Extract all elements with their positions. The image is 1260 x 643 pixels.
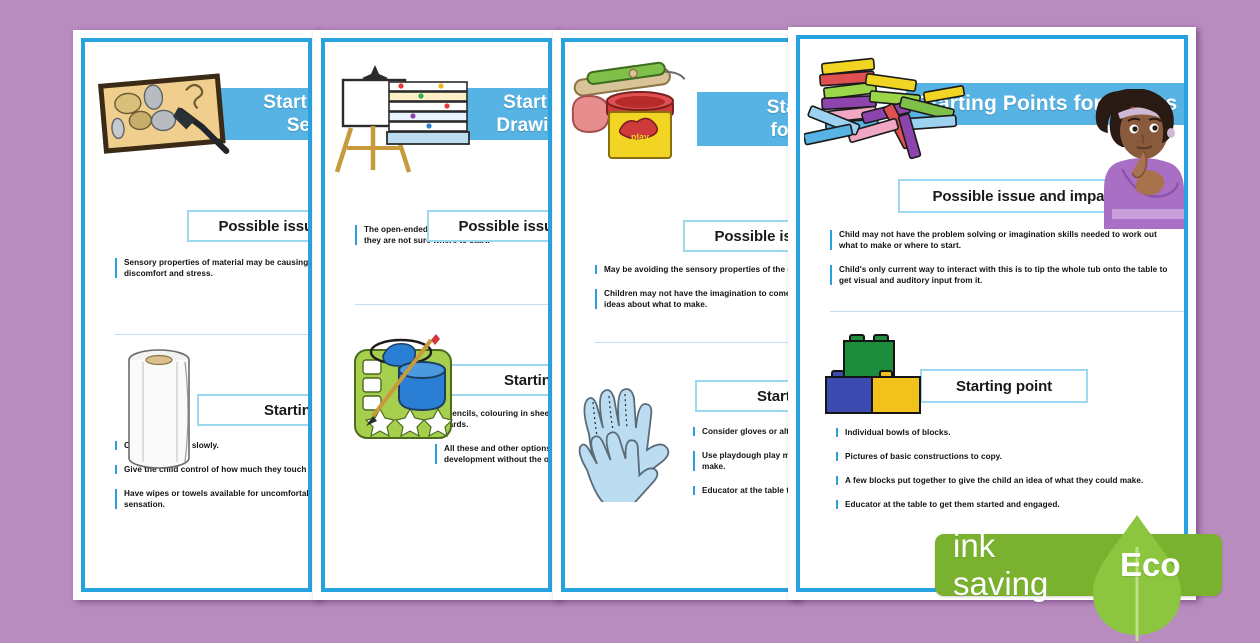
card-drawing-issue-header: Possible issue and impact <box>427 210 552 242</box>
poster-stage: Starting Points for Sensory Play Possibl… <box>0 0 1260 630</box>
colourful-blocks-icon <box>804 55 1004 175</box>
card-playdough-divider <box>595 342 792 343</box>
card-drawing-title: Starting Points for Drawing or Painting <box>488 91 552 137</box>
card-blocks-start-header: Starting point <box>920 369 1088 403</box>
list-item: Have wipes or towels available for uncom… <box>115 488 312 510</box>
card-playdough[interactable]: play Starting Points for Playdough Possi… <box>553 30 800 600</box>
card-blocks-page: Starting Points for Blocks Possible issu… <box>800 39 1188 587</box>
easel-and-paper-icon <box>329 52 489 182</box>
card-drawing[interactable]: Starting Points for Drawing or Painting … <box>313 30 560 600</box>
card-sensory-start-header: Starting point <box>197 394 312 426</box>
card-sensory-divider <box>115 334 312 335</box>
card-blocks-issue-list: Child may not have the problem solving o… <box>830 229 1178 299</box>
card-playdough-issue-list: May be avoiding the sensory properties o… <box>595 264 792 323</box>
list-item: Child's only current way to interact wit… <box>830 264 1178 286</box>
card-sensory[interactable]: Starting Points for Sensory Play Possibl… <box>73 30 320 600</box>
card-sensory-page: Starting Points for Sensory Play Possibl… <box>85 42 312 590</box>
card-sensory-frame: Starting Points for Sensory Play Possibl… <box>81 38 312 592</box>
card-blocks-frame: Starting Points for Blocks Possible issu… <box>796 35 1188 592</box>
card-drawing-frame: Starting Points for Drawing or Painting … <box>321 38 552 592</box>
card-sensory-title: Starting Points for Sensory Play <box>255 91 312 137</box>
card-sensory-issue-header: Possible issue and impact <box>187 210 312 242</box>
card-playdough-frame: play Starting Points for Playdough Possi… <box>561 38 792 592</box>
list-item: Individual bowls of blocks. <box>836 427 1184 438</box>
list-item: Child may not have the problem solving o… <box>830 229 1178 251</box>
card-playdough-issue-header: Possible issue and impact <box>683 220 792 252</box>
list-item: A few blocks put together to give the ch… <box>836 475 1184 486</box>
card-playdough-title: Starting Points for Playdough <box>759 96 792 142</box>
list-item: Use playdough play mats to give them an … <box>693 450 792 472</box>
card-drawing-divider <box>355 304 552 305</box>
lego-bricks-icon <box>824 327 934 419</box>
card-sensory-issue-list: Sensory properties of material may be ca… <box>115 257 312 292</box>
card-drawing-page: Starting Points for Drawing or Painting … <box>325 42 552 590</box>
card-playdough-start-list: Consider gloves or altering the dough re… <box>693 426 792 509</box>
list-item: Sensory properties of material may be ca… <box>115 257 312 279</box>
gloves-icon <box>571 352 701 502</box>
list-item: Pictures of basic constructions to copy. <box>836 451 1184 462</box>
list-item: Children may not have the imagination to… <box>595 288 792 310</box>
eco-word-label: Eco <box>1120 534 1181 596</box>
paper-towel-roll-icon <box>113 346 205 476</box>
playdough-pot-icon: play <box>567 56 717 176</box>
card-blocks-divider <box>830 311 1184 312</box>
svg-text:play: play <box>631 132 649 142</box>
list-item: May be avoiding the sensory properties o… <box>595 264 792 275</box>
eco-ink-label: ink saving <box>953 534 1048 596</box>
list-item: Consider gloves or altering the dough re… <box>693 426 792 437</box>
list-item: Educator at the table to get them starte… <box>836 499 1184 510</box>
list-item: Educator at the table to get them starte… <box>693 485 792 496</box>
card-playdough-page: play Starting Points for Playdough Possi… <box>565 42 792 590</box>
sensory-tray-icon <box>93 60 243 170</box>
paint-palette-icon <box>349 332 469 450</box>
card-playdough-start-header: Starting point <box>695 380 792 412</box>
card-blocks-start-list: Individual bowls of blocks. Pictures of … <box>836 427 1184 523</box>
thinking-girl-icon <box>1092 89 1188 229</box>
